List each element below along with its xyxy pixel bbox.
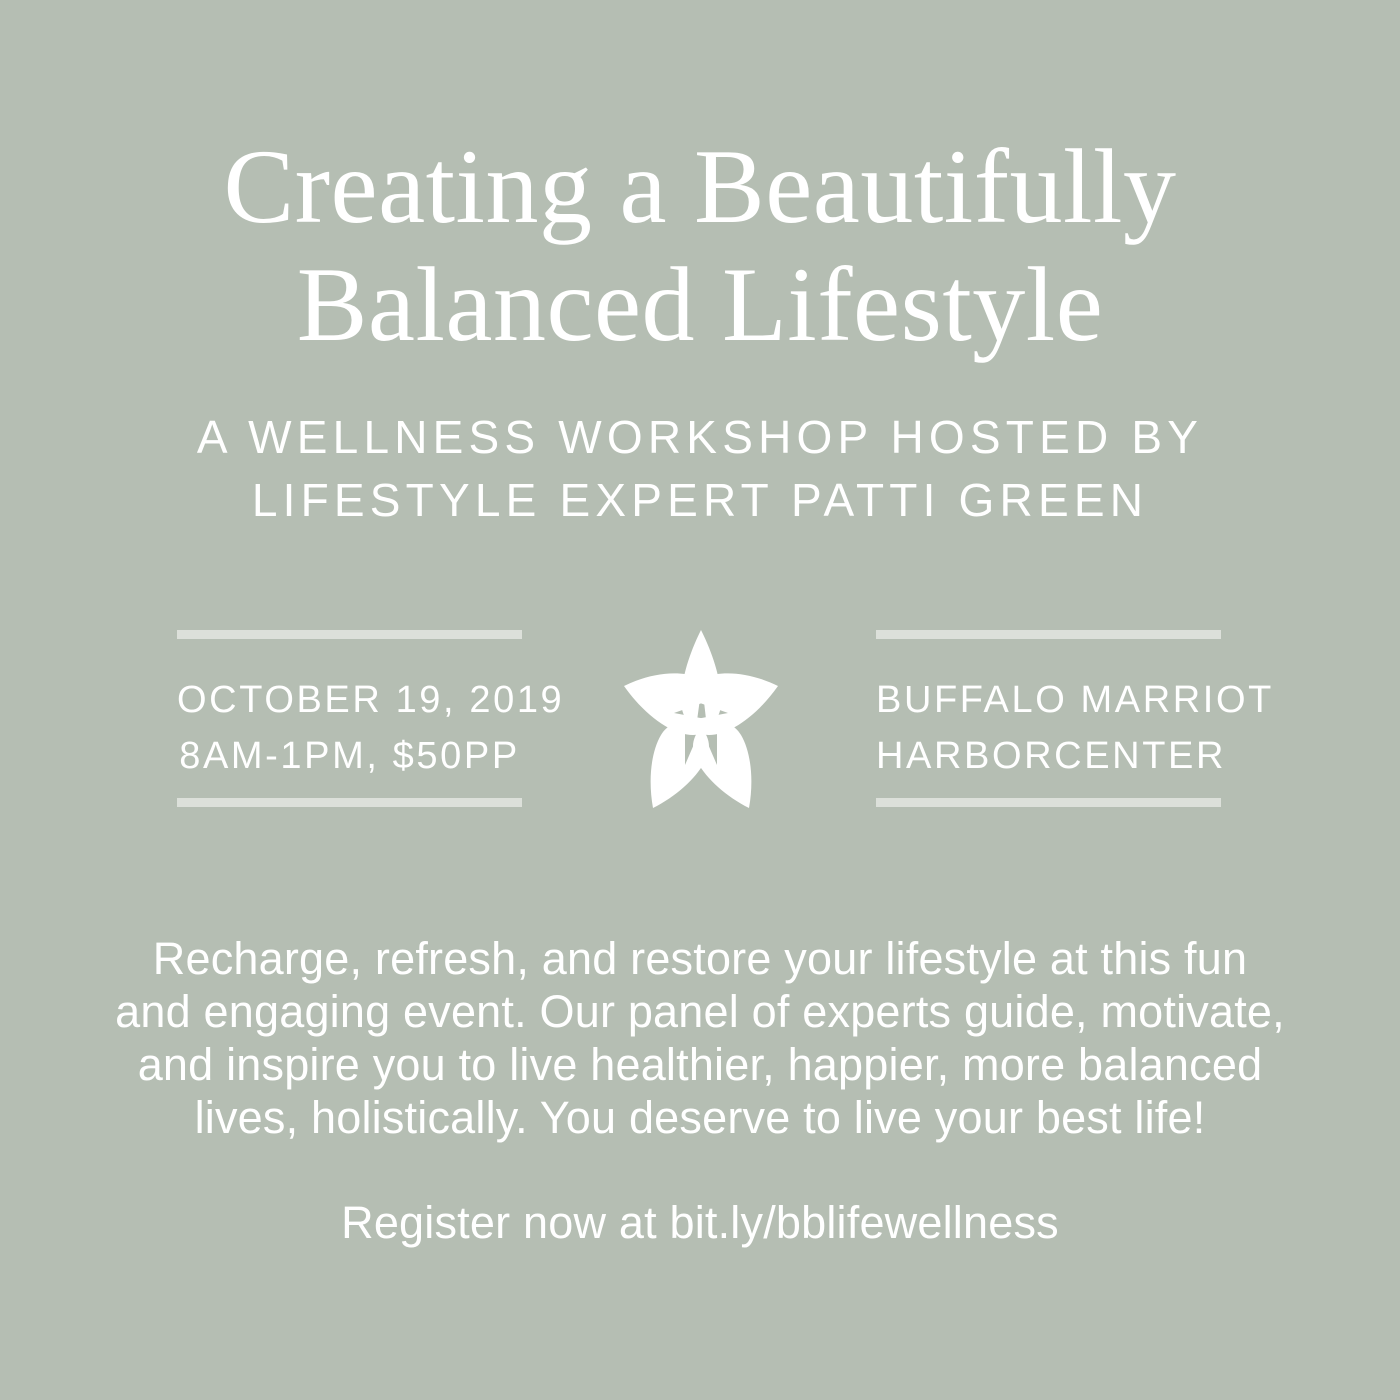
page-subtitle: A WELLNESS WORKSHOP HOSTED BY LIFESTYLE … <box>0 406 1400 532</box>
description-line-4: lives, holistically. You deserve to live… <box>0 1091 1400 1144</box>
subtitle-line-2: LIFESTYLE EXPERT PATTI GREEN <box>0 469 1400 532</box>
registration-link[interactable]: Register now at bit.ly/bblifewellness <box>0 1196 1400 1249</box>
description-line-2: and engaging event. Our panel of experts… <box>0 985 1400 1038</box>
description-line-3: and inspire you to live healthier, happi… <box>0 1038 1400 1091</box>
event-flyer: Creating a Beautifully Balanced Lifestyl… <box>0 0 1400 1400</box>
event-venue-block: BUFFALO MARRIOT HARBORCENTER <box>876 620 1221 810</box>
event-time-price: 8AM-1PM, $50PP <box>177 728 522 784</box>
divider-rule-bottom-left <box>177 798 522 807</box>
event-description: Recharge, refresh, and restore your life… <box>0 932 1400 1144</box>
divider-rule-bottom-right <box>876 798 1221 807</box>
registration-cta[interactable]: Register now at bit.ly/bblifewellness <box>0 1196 1400 1249</box>
description-line-1: Recharge, refresh, and restore your life… <box>0 932 1400 985</box>
event-date-text: OCTOBER 19, 2019 8AM-1PM, $50PP <box>177 672 522 784</box>
divider-rule-top-left <box>177 630 522 639</box>
event-venue-text: BUFFALO MARRIOT HARBORCENTER <box>876 672 1221 784</box>
subtitle-line-1: A WELLNESS WORKSHOP HOSTED BY <box>0 406 1400 469</box>
five-petal-flower-icon <box>622 628 780 812</box>
divider-rule-top-right <box>876 630 1221 639</box>
title-line-2: Balanced Lifestyle <box>0 246 1400 364</box>
event-date-block: OCTOBER 19, 2019 8AM-1PM, $50PP <box>177 620 522 810</box>
venue-location: HARBORCENTER <box>876 728 1221 784</box>
title-line-1: Creating a Beautifully <box>0 128 1400 246</box>
page-title: Creating a Beautifully Balanced Lifestyl… <box>0 128 1400 364</box>
event-date: OCTOBER 19, 2019 <box>177 672 522 728</box>
venue-name: BUFFALO MARRIOT <box>876 672 1221 728</box>
